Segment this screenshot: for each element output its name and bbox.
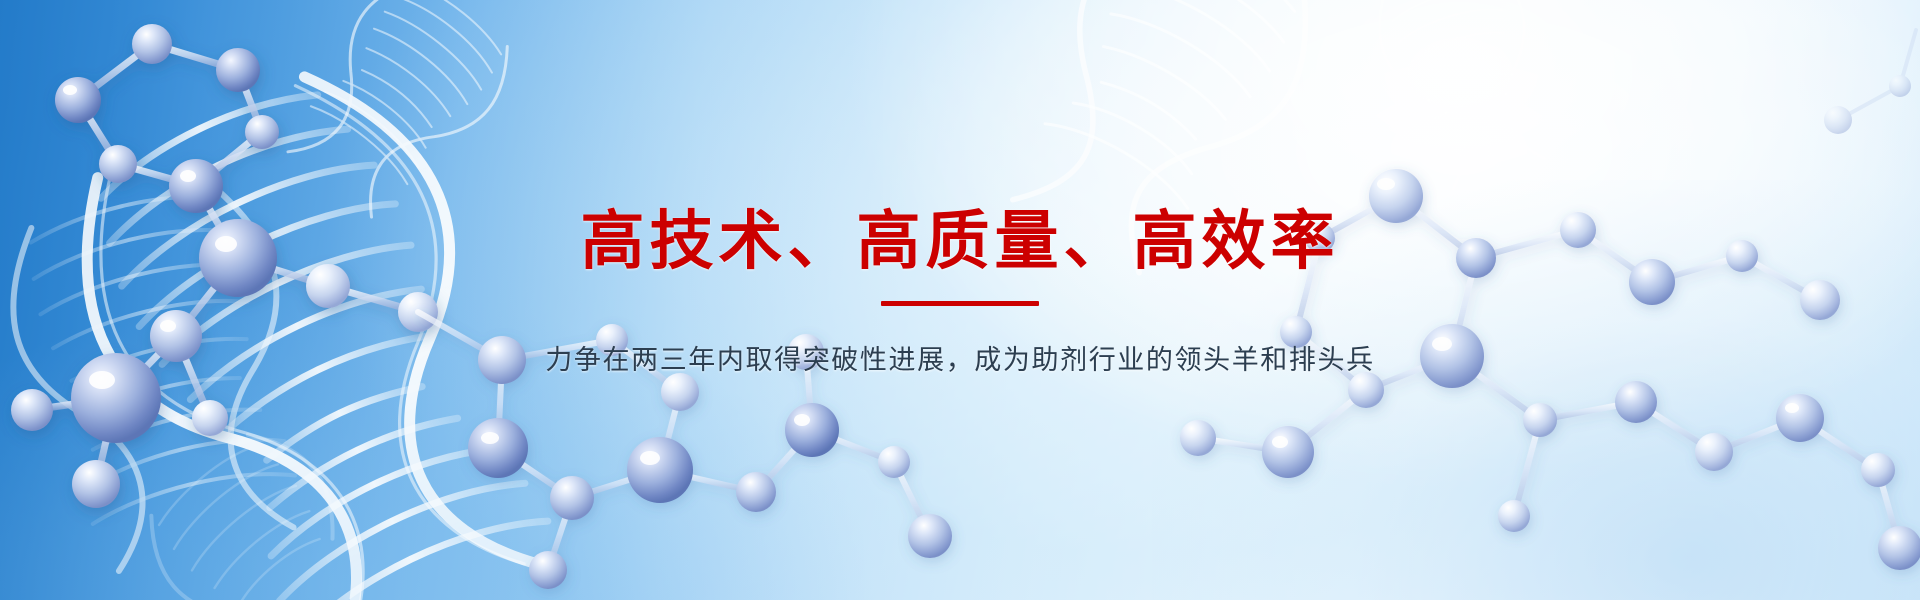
hero-banner: 高技术、高质量、高效率 力争在两三年内取得突破性进展，成为助剂行业的领头羊和排头…	[0, 0, 1920, 600]
banner-subtitle: 力争在两三年内取得突破性进展，成为助剂行业的领头羊和排头兵	[545, 342, 1374, 380]
molecule-left	[11, 24, 438, 508]
page-title: 高技术、高质量、高效率	[581, 204, 1340, 280]
molecule-structure-icon	[0, 0, 1920, 600]
molecule-right-echo	[1824, 30, 1916, 134]
title-divider	[881, 301, 1039, 306]
